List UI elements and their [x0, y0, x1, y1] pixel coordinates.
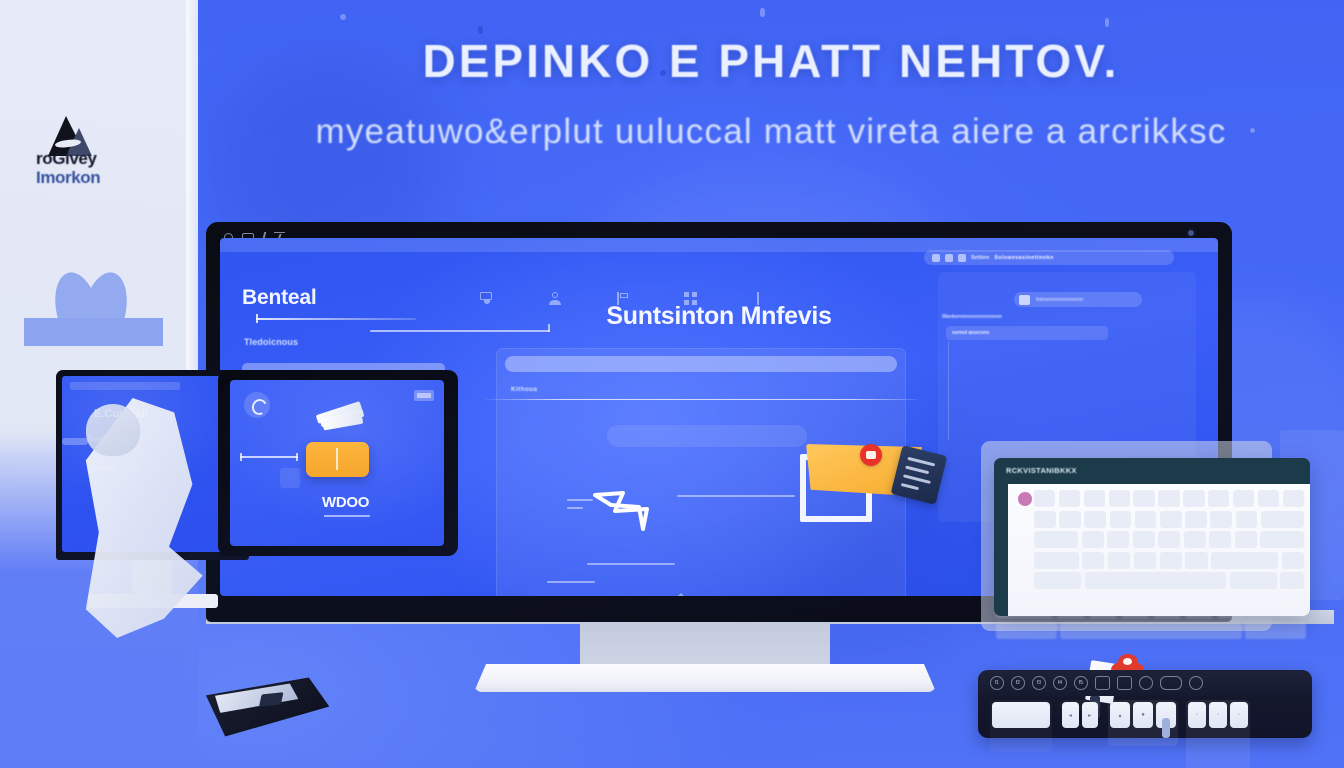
measure-arrow-icon	[240, 456, 298, 458]
list-icon	[945, 254, 953, 262]
decorative-shape	[280, 468, 300, 488]
toolbar-text: Settien	[971, 255, 989, 261]
tab-button[interactable]	[1095, 676, 1110, 690]
chevron-down-icon	[677, 593, 685, 596]
keyboard-row[interactable]	[1034, 572, 1304, 589]
stacked-papers-icon	[316, 400, 366, 430]
keyboard-grid[interactable]	[1034, 490, 1304, 608]
swirl-logo-icon	[244, 392, 270, 418]
badge-icon	[932, 254, 940, 262]
hero-illustration: roGivey Imorkon DEPINKO E PHATT NEHTOV. …	[0, 0, 1344, 768]
f5-button[interactable]: f5	[1074, 676, 1088, 690]
alt-button[interactable]	[1117, 676, 1132, 690]
scribble-graphic	[593, 481, 763, 533]
keyboard-row[interactable]	[1034, 531, 1304, 548]
envelope-icon	[800, 436, 940, 528]
spacebar-group[interactable]	[990, 700, 1052, 752]
decorative-dot	[478, 26, 483, 34]
decorative-dot	[340, 14, 346, 20]
console-key-groups[interactable]: ◂▸ ▴● ◦◦◦	[990, 700, 1300, 768]
brand-logo[interactable]: roGivey Imorkon	[36, 112, 166, 188]
dark-window: RCKVISTANIBKKX	[994, 458, 1310, 616]
console-button-row[interactable]: f1 f2 f3 f4 f5	[978, 670, 1312, 696]
logo-line2: Imorkon	[36, 168, 166, 188]
panel-caption: Wankenmnnnnnnnnnnnn	[942, 314, 1002, 320]
panel-toolbar[interactable]: Settien Soloanvasinettnnkn	[924, 250, 1174, 265]
logo-line1: roGivey	[36, 149, 166, 169]
decorative-dot	[1250, 128, 1255, 133]
keyboard-row[interactable]	[1034, 511, 1304, 528]
f3-button[interactable]: f3	[1032, 676, 1046, 690]
monitor-stand-neck	[580, 614, 830, 670]
arrow-group[interactable]: ◂▸	[1060, 700, 1100, 710]
ctrl-button[interactable]	[1139, 676, 1153, 690]
orange-card-icon	[306, 442, 369, 477]
app-subtitle: Tledoicnous	[244, 337, 298, 347]
enter-button[interactable]	[1189, 676, 1203, 690]
toolbar-text-secondary: Soloanvasinettnnkn	[994, 255, 1053, 261]
field-value: Inteoonnnnnnnnnnnn	[1036, 297, 1083, 303]
power-group[interactable]: ◦◦◦	[1186, 700, 1250, 768]
decorative-dot	[1105, 18, 1109, 27]
webcam-icon	[1186, 228, 1196, 238]
monitor-stand-base	[474, 664, 936, 692]
on-screen-keyboard-icon[interactable]	[1008, 484, 1310, 616]
file-icon	[958, 254, 966, 262]
abstract-drape-accent	[86, 404, 140, 456]
panel-guide-line	[948, 342, 949, 440]
decorative-dot	[660, 70, 666, 76]
list-item-label: sonnd anocnnn	[952, 330, 989, 336]
keyboard-row[interactable]	[1034, 552, 1304, 569]
console-knob[interactable]	[1162, 718, 1170, 738]
shift-button[interactable]	[1160, 676, 1182, 690]
potted-plant-icon	[24, 278, 164, 346]
f2-button[interactable]: f2	[1011, 676, 1025, 690]
card-divider	[485, 399, 917, 400]
field-badge-icon	[1019, 295, 1030, 305]
card-pill	[607, 425, 807, 447]
amount-underline	[324, 515, 370, 517]
screen-top-bar	[70, 382, 180, 390]
card-line	[677, 495, 795, 497]
notification-badge-icon	[860, 444, 882, 466]
window-title: RCKVISTANIBKKX	[994, 458, 1310, 482]
decorative-dot	[760, 8, 765, 17]
panel-input-field[interactable]: Inteoonnnnnnnnnnnn	[1014, 292, 1142, 307]
card-header-bar	[505, 356, 897, 372]
tablet-amount: WDOO	[322, 494, 369, 511]
f4-button[interactable]: f4	[1053, 676, 1067, 690]
card-line	[547, 581, 595, 583]
card-line	[587, 563, 675, 565]
f1-button[interactable]: f1	[990, 676, 1004, 690]
tablet-screen: WDOO	[230, 380, 444, 546]
control-console: f1 f2 f3 f4 f5 ◂▸ ▴● ◦◦◦	[978, 670, 1312, 738]
card-label: Kithoua	[511, 386, 537, 393]
decorative-pill	[62, 438, 88, 445]
keyboard-row[interactable]	[1034, 490, 1304, 507]
menu-badge-icon[interactable]	[414, 390, 434, 401]
tablet-bezel: WDOO	[218, 370, 458, 556]
card-line	[567, 499, 593, 501]
record-dot-icon[interactable]	[1018, 492, 1032, 506]
front-tablet: WDOO	[218, 370, 458, 556]
list-item[interactable]: sonnd anocnnn	[946, 326, 1108, 340]
card-line	[567, 507, 583, 509]
